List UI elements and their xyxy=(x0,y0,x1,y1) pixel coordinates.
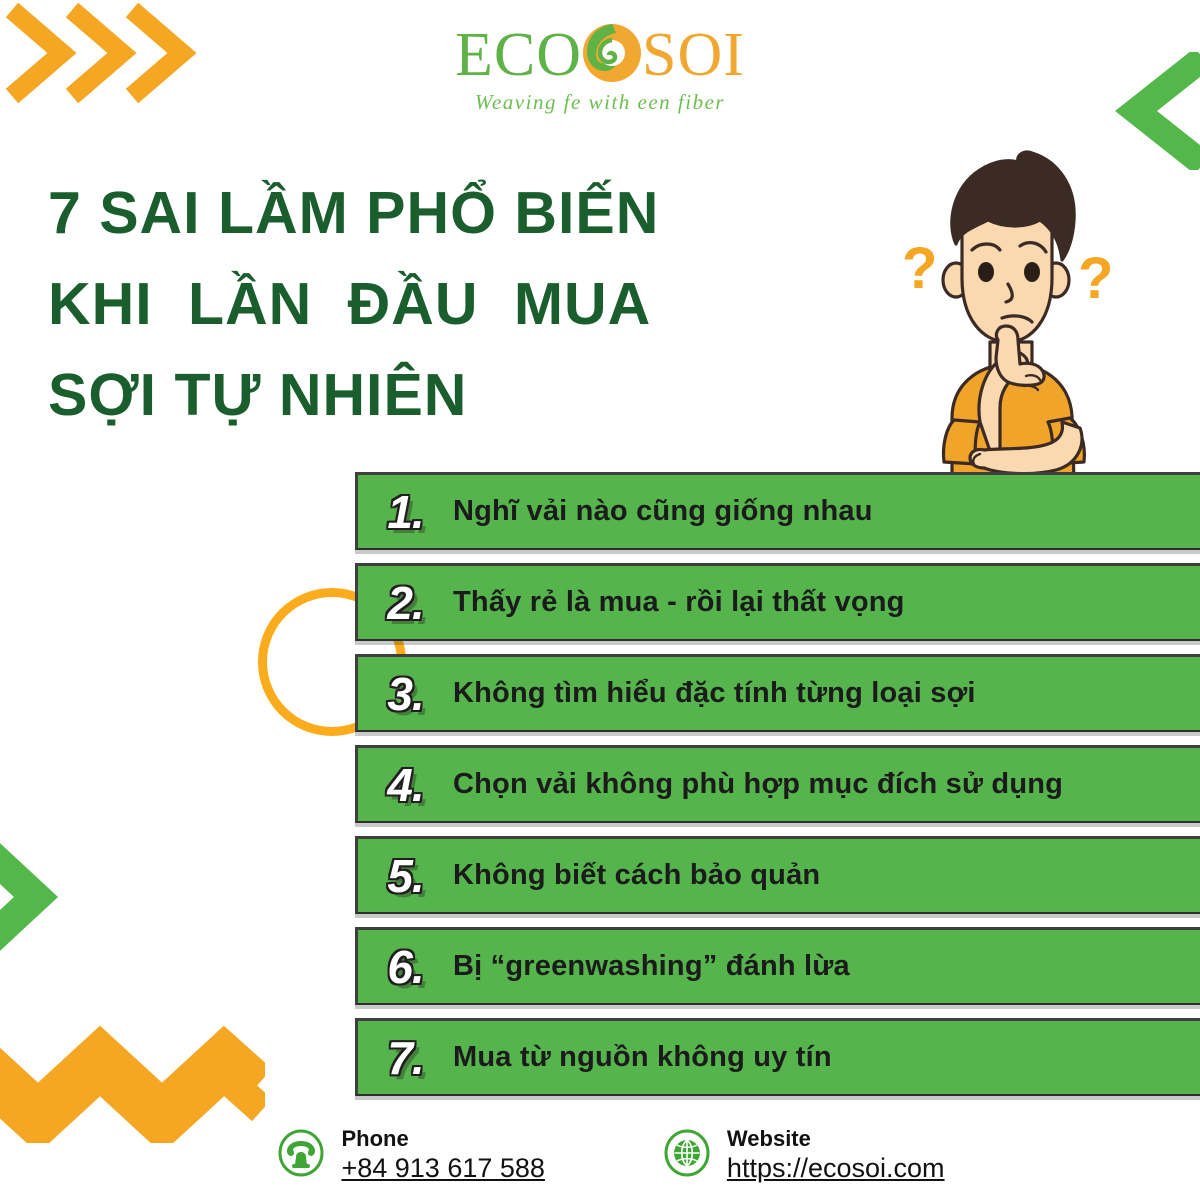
page-title-line-1: 7 SAI LẦM PHỔ BIẾN xyxy=(48,168,878,259)
chevron-icon-bottom-left xyxy=(0,822,83,972)
mistake-list: 1. Nghĩ vải nào cũng giống nhau 2. Thấy … xyxy=(355,472,1200,1109)
contact-phone[interactable]: Phone +84 913 617 588 xyxy=(277,1126,544,1185)
zigzag-pattern-bottom-left xyxy=(0,1008,265,1143)
mistake-number: 2. xyxy=(358,576,453,630)
mistake-text: Nghĩ vải nào cũng giống nhau xyxy=(453,495,873,528)
contact-website[interactable]: Website https://ecosoi.com xyxy=(663,1126,945,1185)
brand-logo: ECO SOI Weaving fe with een fiber xyxy=(0,22,1200,115)
mistake-text: Thấy rẻ là mua - rồi lại thất vọng xyxy=(453,586,905,619)
mistake-row-7[interactable]: 7. Mua từ nguồn không uy tín xyxy=(355,1018,1200,1096)
mistake-row-5[interactable]: 5. Không biết cách bảo quản xyxy=(355,836,1200,914)
brand-tagline: Weaving fe with een fiber xyxy=(0,90,1200,115)
question-mark-left: ? xyxy=(902,236,937,301)
mistake-row-1[interactable]: 1. Nghĩ vải nào cũng giống nhau xyxy=(355,472,1200,550)
mistake-text: Mua từ nguồn không uy tín xyxy=(453,1041,832,1074)
mistake-number: 7. xyxy=(358,1031,453,1085)
globe-icon xyxy=(663,1129,711,1177)
mistake-text: Bị “greenwashing” đánh lừa xyxy=(453,950,850,983)
mistake-number: 5. xyxy=(358,849,453,903)
mistake-number: 3. xyxy=(358,667,453,721)
mistake-text: Không tìm hiểu đặc tính từng loại sợi xyxy=(453,677,976,710)
mistake-row-3[interactable]: 3. Không tìm hiểu đặc tính từng loại sợi xyxy=(355,654,1200,732)
logo-text-eco: ECO xyxy=(455,21,582,89)
question-mark-right: ? xyxy=(1078,246,1113,311)
page-title-line-2: KHI LẦN ĐẦU MUA xyxy=(48,259,878,350)
phone-icon xyxy=(277,1129,325,1177)
mistake-number: 1. xyxy=(358,485,453,539)
mistake-number: 6. xyxy=(358,940,453,994)
mistake-text: Chọn vải không phù hợp mục đích sử dụng xyxy=(453,768,1063,801)
swirl-icon xyxy=(580,21,644,85)
contact-phone-value[interactable]: +84 913 617 588 xyxy=(341,1152,544,1185)
mistake-row-2[interactable]: 2. Thấy rẻ là mua - rồi lại thất vọng xyxy=(355,563,1200,641)
contact-phone-label: Phone xyxy=(341,1126,544,1152)
contact-footer: Phone +84 913 617 588 Website https://ec… xyxy=(0,1126,1200,1185)
logo-text-soi: SOI xyxy=(642,21,745,89)
page-title: 7 SAI LẦM PHỔ BIẾN KHI LẦN ĐẦU MUA SỢI T… xyxy=(48,168,878,441)
mistake-number: 4. xyxy=(358,758,453,812)
mistake-row-4[interactable]: 4. Chọn vải không phù hợp mục đích sử dụ… xyxy=(355,745,1200,823)
thinking-man-illustration: ? ? xyxy=(880,128,1140,480)
mistake-row-6[interactable]: 6. Bị “greenwashing” đánh lừa xyxy=(355,927,1200,1005)
page-title-line-3: SỢI TỰ NHIÊN xyxy=(48,350,878,441)
mistake-text: Không biết cách bảo quản xyxy=(453,859,820,892)
contact-website-label: Website xyxy=(727,1126,945,1152)
contact-website-value[interactable]: https://ecosoi.com xyxy=(727,1152,945,1185)
